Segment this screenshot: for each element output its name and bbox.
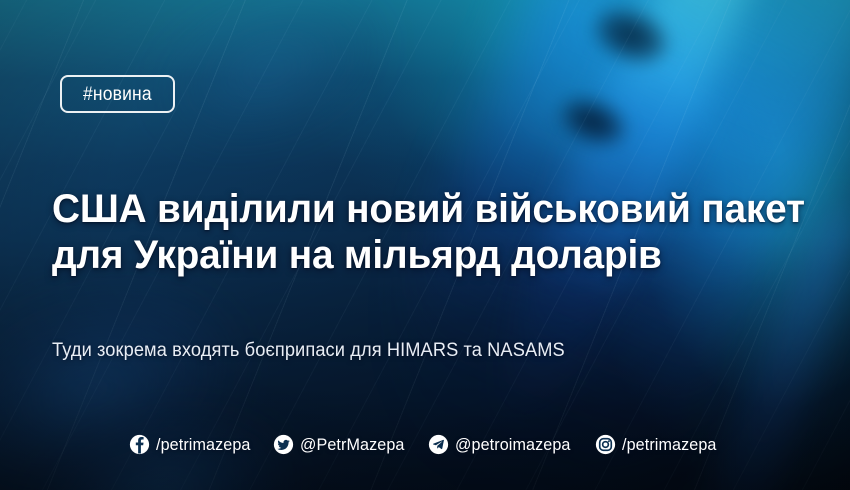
headline-line-1: США виділили новий військовий пакет [52, 186, 750, 232]
card-content: #новина США виділили новий військовий па… [0, 0, 850, 490]
twitter-handle: @PetrMazepa [300, 435, 405, 455]
instagram-icon [595, 434, 616, 455]
social-link-instagram[interactable]: /petrimazepa [595, 434, 721, 455]
subtitle: Туди зокрема входять боєприпаси для HIMA… [52, 340, 565, 362]
telegram-handle: @petroimazepa [455, 435, 570, 455]
category-badge[interactable]: #новина [60, 75, 175, 113]
headline-line-2: для України на мільярд доларів [52, 232, 750, 278]
social-link-twitter[interactable]: @PetrMazepa [273, 434, 410, 455]
instagram-handle: /petrimazepa [622, 435, 717, 455]
news-card: #новина США виділили новий військовий па… [0, 0, 850, 490]
telegram-icon [428, 434, 449, 455]
twitter-icon [273, 434, 294, 455]
category-badge-label: #новина [83, 85, 152, 104]
headline: США виділили новий військовий пакет для … [52, 186, 772, 278]
facebook-icon [129, 434, 150, 455]
social-links-bar: /petrimazepa @PetrMazepa [0, 434, 850, 455]
facebook-handle: /petrimazepa [156, 435, 251, 455]
social-link-telegram[interactable]: @petroimazepa [428, 434, 577, 455]
social-link-facebook[interactable]: /petrimazepa [129, 434, 255, 455]
